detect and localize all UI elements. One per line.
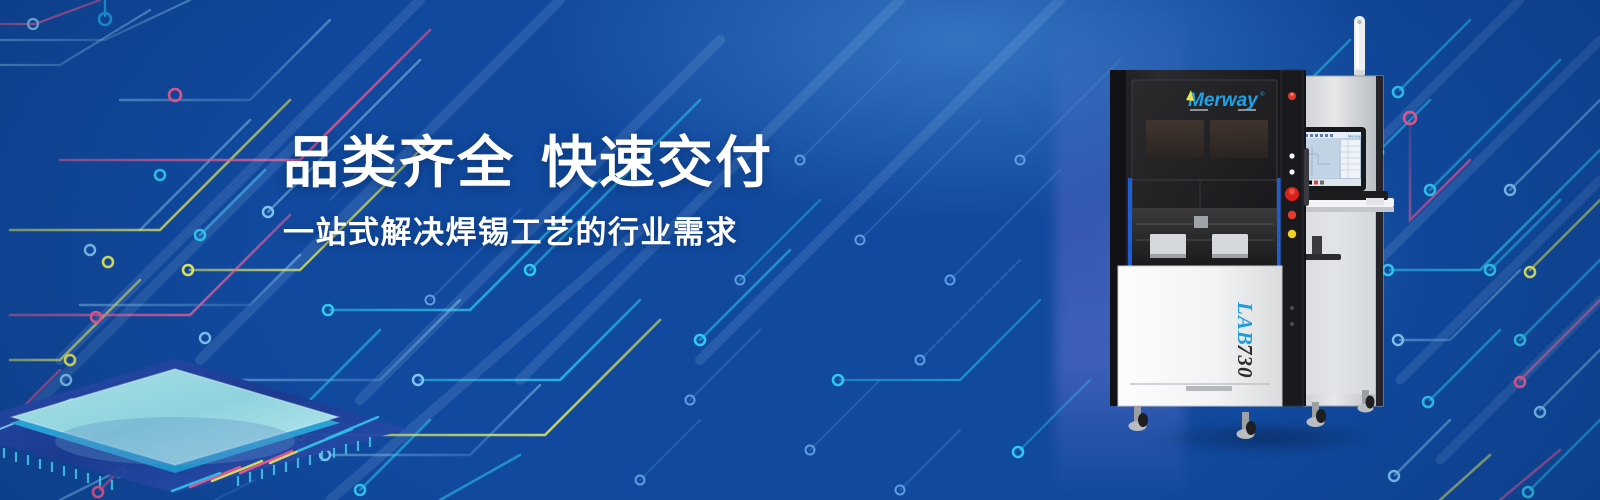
exhaust-tube <box>1354 16 1365 84</box>
status-led-red <box>1288 211 1296 219</box>
headline-part-1: 品类齐全 <box>283 131 515 194</box>
svg-text:LAB: LAB <box>1233 301 1257 346</box>
fixture-right <box>1212 234 1248 256</box>
svg-text:Merway: Merway <box>1348 134 1362 139</box>
machine-right-tower <box>1295 76 1383 406</box>
hero-copy: 品类齐全快速交付 一站式解决焊锡工艺的行业需求 <box>283 133 903 252</box>
page-subtitle: 一站式解决焊锡工艺的行业需求 <box>283 207 903 252</box>
accent-strip-left <box>1128 178 1132 274</box>
hero-banner: 品类齐全快速交付 一站式解决焊锡工艺的行业需求 <box>0 0 1600 500</box>
status-led-yellow <box>1288 230 1296 238</box>
accent-strip-right <box>1277 178 1281 274</box>
svg-text:Merway: Merway <box>1188 90 1259 111</box>
svg-text:®: ® <box>1260 91 1265 98</box>
status-led-white-1 <box>1289 153 1294 158</box>
soldering-machine-lab730: Merway <box>1090 8 1450 478</box>
page-title: 品类齐全快速交付 <box>283 133 903 193</box>
brand-logo: Merway ® <box>1186 90 1265 111</box>
model-label: LAB 730 <box>1233 301 1257 379</box>
machine-lower-panel: LAB 730 <box>1118 266 1282 406</box>
chip-platform <box>0 355 410 495</box>
svg-text:730: 730 <box>1233 344 1257 379</box>
headline-part-2: 快速交付 <box>541 131 773 194</box>
fixture-left <box>1150 234 1186 256</box>
status-led-white-2 <box>1289 169 1294 174</box>
